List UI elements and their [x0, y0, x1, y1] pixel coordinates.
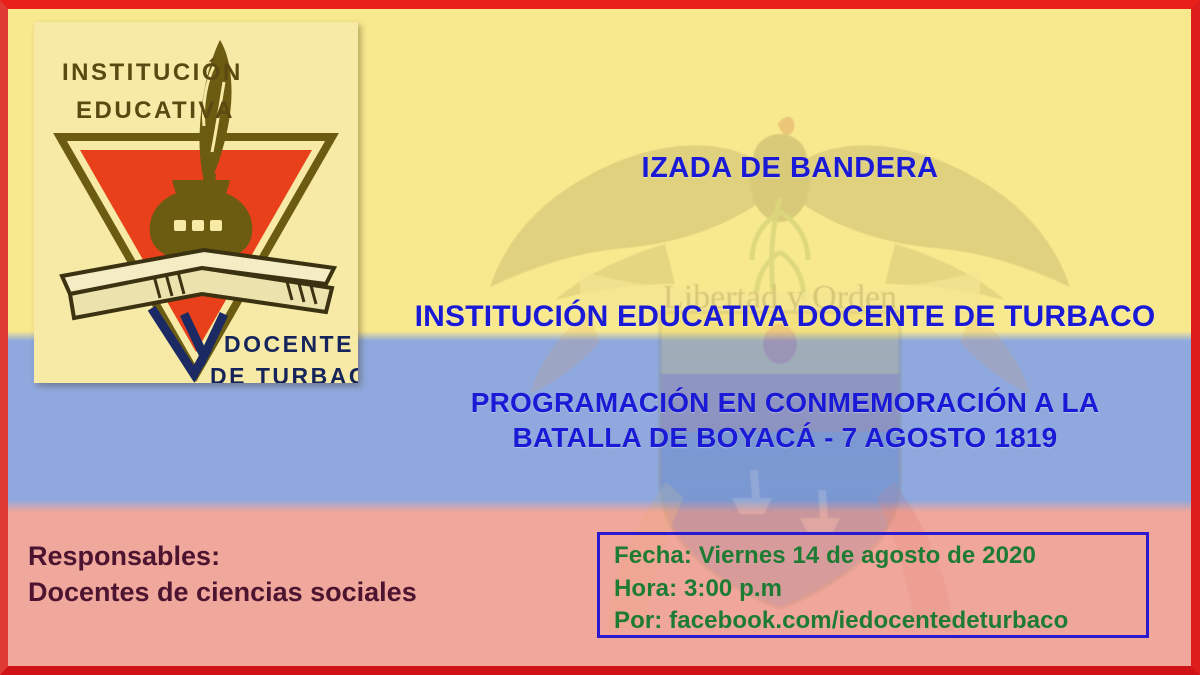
event-details-box: Fecha: Viernes 14 de agosto de 2020 Hora…: [597, 532, 1149, 638]
institution-name-title: INSTITUCIÓN EDUCATIVA DOCENTE DE TURBACO: [385, 300, 1185, 334]
school-logo: INSTITUCIÓN EDUCATIVA DOCENTE DE TURBACO: [34, 22, 358, 383]
logo-line-1: INSTITUCIÓN: [62, 58, 243, 86]
event-channel-line: Por: facebook.com/iedocentedeturbaco: [614, 605, 1146, 638]
logo-line-4: DE TURBACO: [210, 363, 358, 383]
program-subtitle: PROGRAMACIÓN EN CONMEMORACIÓN A LA BATAL…: [400, 385, 1170, 455]
event-time-line: Hora: 3:00 p.m: [614, 573, 1146, 606]
poster-canvas: Libertad y Orden: [0, 0, 1200, 675]
logo-line-2: EDUCATIVA: [76, 97, 235, 124]
event-date-line: Fecha: Viernes 14 de agosto de 2020: [614, 540, 1146, 573]
logo-line-3: DOCENTE: [224, 331, 354, 357]
event-type-title: IZADA DE BANDERA: [400, 152, 1180, 184]
responsables-block: Responsables: Docentes de ciencias socia…: [28, 538, 417, 611]
